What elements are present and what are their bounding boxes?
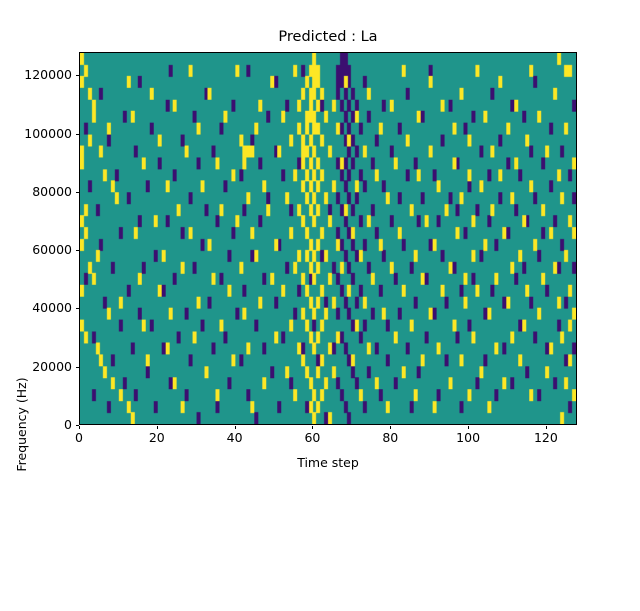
y-tick-mark — [76, 308, 80, 309]
x-tick-label: 80 — [382, 431, 398, 445]
y-tick-mark — [76, 134, 80, 135]
x-tick-label: 20 — [149, 431, 165, 445]
chart-title: Predicted : La — [79, 28, 577, 46]
y-tick-label: 0 — [64, 418, 72, 432]
x-axis-label: Time step — [79, 455, 577, 470]
y-tick-mark — [76, 75, 80, 76]
spectrogram-heatmap — [80, 53, 576, 424]
x-tick-label: 120 — [534, 431, 558, 445]
x-tick-mark — [468, 426, 469, 430]
y-tick-label: 80000 — [32, 185, 72, 199]
x-tick-mark — [79, 426, 80, 430]
y-tick-mark — [76, 250, 80, 251]
y-tick-label: 60000 — [32, 243, 72, 257]
x-tick-label: 40 — [227, 431, 243, 445]
y-tick-mark — [76, 192, 80, 193]
y-tick-label: 100000 — [24, 127, 72, 141]
matplotlib-figure: Predicted : La Frequency (Hz) Time step … — [0, 0, 640, 480]
plot-area — [79, 52, 577, 425]
x-tick-mark — [546, 426, 547, 430]
y-tick-label: 40000 — [32, 301, 72, 315]
y-tick-label: 20000 — [32, 360, 72, 374]
x-tick-label: 0 — [75, 431, 83, 445]
x-tick-mark — [312, 426, 313, 430]
y-tick-label: 120000 — [24, 68, 72, 82]
x-tick-label: 60 — [304, 431, 320, 445]
x-tick-label: 100 — [456, 431, 480, 445]
x-tick-mark — [235, 426, 236, 430]
y-tick-mark — [76, 367, 80, 368]
y-axis-label: Frequency (Hz) — [14, 238, 30, 611]
x-tick-mark — [390, 426, 391, 430]
x-tick-mark — [157, 426, 158, 430]
